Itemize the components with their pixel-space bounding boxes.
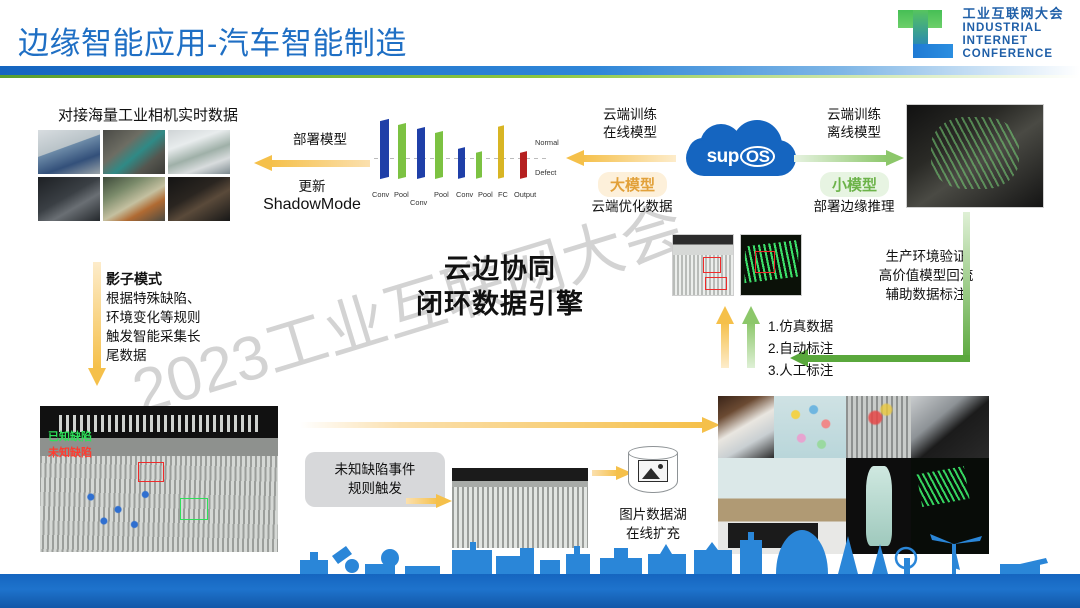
deploy-model-arrow-icon bbox=[254, 155, 370, 171]
cnn-output-defect-label: Defect bbox=[535, 168, 556, 177]
supos-suffix: OS bbox=[740, 146, 776, 167]
cnn-layer bbox=[417, 127, 425, 179]
supos-cloud-logo: supOS bbox=[686, 120, 796, 182]
return-path-vertical bbox=[963, 212, 970, 362]
unknown-defect-box bbox=[138, 462, 164, 482]
center-heading-line1: 云边协同 bbox=[380, 252, 620, 287]
cnn-layer-label: Output bbox=[514, 190, 536, 199]
logo-text-block: 工业互联网大会 INDUSTRIAL INTERNET CONFERENCE bbox=[962, 7, 1064, 60]
center-heading: 云边协同 闭环数据引擎 bbox=[380, 252, 620, 321]
right-note-line: 生产环境验证 bbox=[856, 248, 996, 266]
callout-line1: 未知缺陷事件 bbox=[311, 461, 439, 480]
cnn-layer bbox=[398, 123, 406, 179]
data-flow-arrow-icon bbox=[300, 417, 720, 433]
collage-tile bbox=[846, 396, 911, 458]
defect-box bbox=[755, 251, 775, 273]
logo-title-en-1: INDUSTRIAL bbox=[962, 22, 1064, 35]
logo-title-en-2: INTERNET bbox=[962, 35, 1064, 48]
callout-to-image-arrow-icon bbox=[406, 494, 452, 508]
slide-root: 边缘智能应用-汽车智能制造 工业互联网大会 INDUSTRIAL INTERNE… bbox=[0, 0, 1080, 608]
cnn-layer bbox=[520, 151, 527, 179]
edge-deploy-arrow-icon bbox=[794, 150, 904, 166]
cnn-layer-label: Conv bbox=[456, 190, 473, 199]
collage-tile bbox=[718, 396, 774, 458]
shadow-mode-line: 根据特殊缺陷、 bbox=[106, 290, 201, 308]
cloud-offline-train-line1: 云端训练 bbox=[812, 106, 896, 124]
camera-photo-grid bbox=[38, 130, 230, 221]
inspection-image-dark bbox=[740, 234, 802, 296]
shadowmode-label: ShadowMode bbox=[250, 194, 374, 215]
cloud-offline-train-line2: 离线模型 bbox=[812, 124, 896, 142]
collage-tile bbox=[911, 396, 989, 458]
page-title: 边缘智能应用-汽车智能制造 bbox=[18, 18, 407, 63]
photo-thumb bbox=[168, 130, 230, 174]
supos-brand-text: supOS bbox=[686, 146, 796, 168]
deploy-model-label: 部署模型 bbox=[272, 131, 368, 149]
photo-thumb bbox=[103, 130, 165, 174]
right-note-line: 高价值模型回流 bbox=[856, 267, 996, 285]
cnn-layer-label: Conv bbox=[410, 198, 427, 207]
camera-data-caption: 对接海量工业相机实时数据 bbox=[38, 106, 258, 126]
cnn-layer-label: Pool bbox=[478, 190, 493, 199]
logo-title-en-3: CONFERENCE bbox=[962, 48, 1064, 61]
shadow-mode-line: 环境变化等规则 bbox=[106, 309, 201, 327]
conference-logo: 工业互联网大会 INDUSTRIAL INTERNET CONFERENCE bbox=[896, 6, 1064, 62]
shadow-mode-line: 尾数据 bbox=[106, 347, 147, 365]
small-model-badge: 小模型 bbox=[820, 172, 889, 197]
cloud-online-train-line1: 云端训练 bbox=[588, 106, 672, 124]
city-skyline-silhouette-icon bbox=[0, 530, 1080, 574]
shadow-mode-heading: 影子模式 bbox=[106, 270, 162, 288]
big-model-badge: 大模型 bbox=[598, 172, 667, 197]
title-divider-blue bbox=[0, 66, 1080, 75]
cnn-layer-label: Conv bbox=[372, 190, 389, 199]
known-defect-tag: 已知缺陷 bbox=[48, 428, 92, 444]
data-step: 1.仿真数据 bbox=[768, 318, 833, 336]
image-database-icon bbox=[626, 446, 680, 500]
photo-thumb bbox=[168, 177, 230, 221]
shadow-mode-down-arrow-icon bbox=[88, 262, 106, 386]
photo-thumb bbox=[38, 177, 100, 221]
cloud-to-edge-arrow-icon bbox=[566, 150, 676, 166]
cnn-output-normal-label: Normal bbox=[535, 138, 559, 147]
cnn-layer bbox=[435, 131, 443, 179]
data-step: 3.人工标注 bbox=[768, 362, 833, 380]
cnn-architecture-diagram: Conv Pool Conv Pool Conv Pool FC Output … bbox=[372, 112, 568, 204]
cnn-layer-label: FC bbox=[498, 190, 508, 199]
cloud-online-train-line2: 在线模型 bbox=[588, 124, 672, 142]
data-lake-line1: 图片数据湖 bbox=[606, 506, 700, 524]
supos-prefix: sup bbox=[707, 146, 739, 167]
edge-inspection-photo bbox=[906, 104, 1044, 208]
edge-inference-label: 部署边缘推理 bbox=[802, 198, 906, 216]
title-divider-green bbox=[0, 75, 1080, 78]
data-step: 2.自动标注 bbox=[768, 340, 833, 358]
photo-thumb bbox=[38, 130, 100, 174]
photo-thumb bbox=[103, 177, 165, 221]
logo-title-cn: 工业互联网大会 bbox=[962, 7, 1064, 22]
cnn-layer-label: Pool bbox=[394, 190, 409, 199]
cnn-layer bbox=[380, 119, 389, 179]
unknown-defect-tag: 未知缺陷 bbox=[48, 444, 92, 460]
right-note-line: 辅助数据标注 bbox=[856, 286, 996, 304]
feed-up-arrow-orange-icon bbox=[716, 306, 734, 368]
known-defect-box bbox=[180, 498, 208, 520]
industrial-internet-logo-icon bbox=[896, 6, 954, 62]
cnn-layer bbox=[458, 147, 465, 179]
center-heading-line2: 闭环数据引擎 bbox=[380, 287, 620, 322]
collage-tile bbox=[774, 396, 846, 458]
defect-box bbox=[705, 277, 727, 290]
inspection-image-light bbox=[672, 234, 734, 296]
cloud-optimized-data-label: 云端优化数据 bbox=[580, 198, 684, 216]
cnn-layer bbox=[498, 125, 504, 178]
defect-box bbox=[703, 257, 721, 273]
footer-band bbox=[0, 574, 1080, 608]
cnn-layer bbox=[476, 151, 482, 178]
shadow-mode-line: 触发智能采集长 bbox=[106, 328, 201, 346]
cnn-layer-label: Pool bbox=[434, 190, 449, 199]
feed-up-arrow-green-icon bbox=[742, 306, 760, 368]
